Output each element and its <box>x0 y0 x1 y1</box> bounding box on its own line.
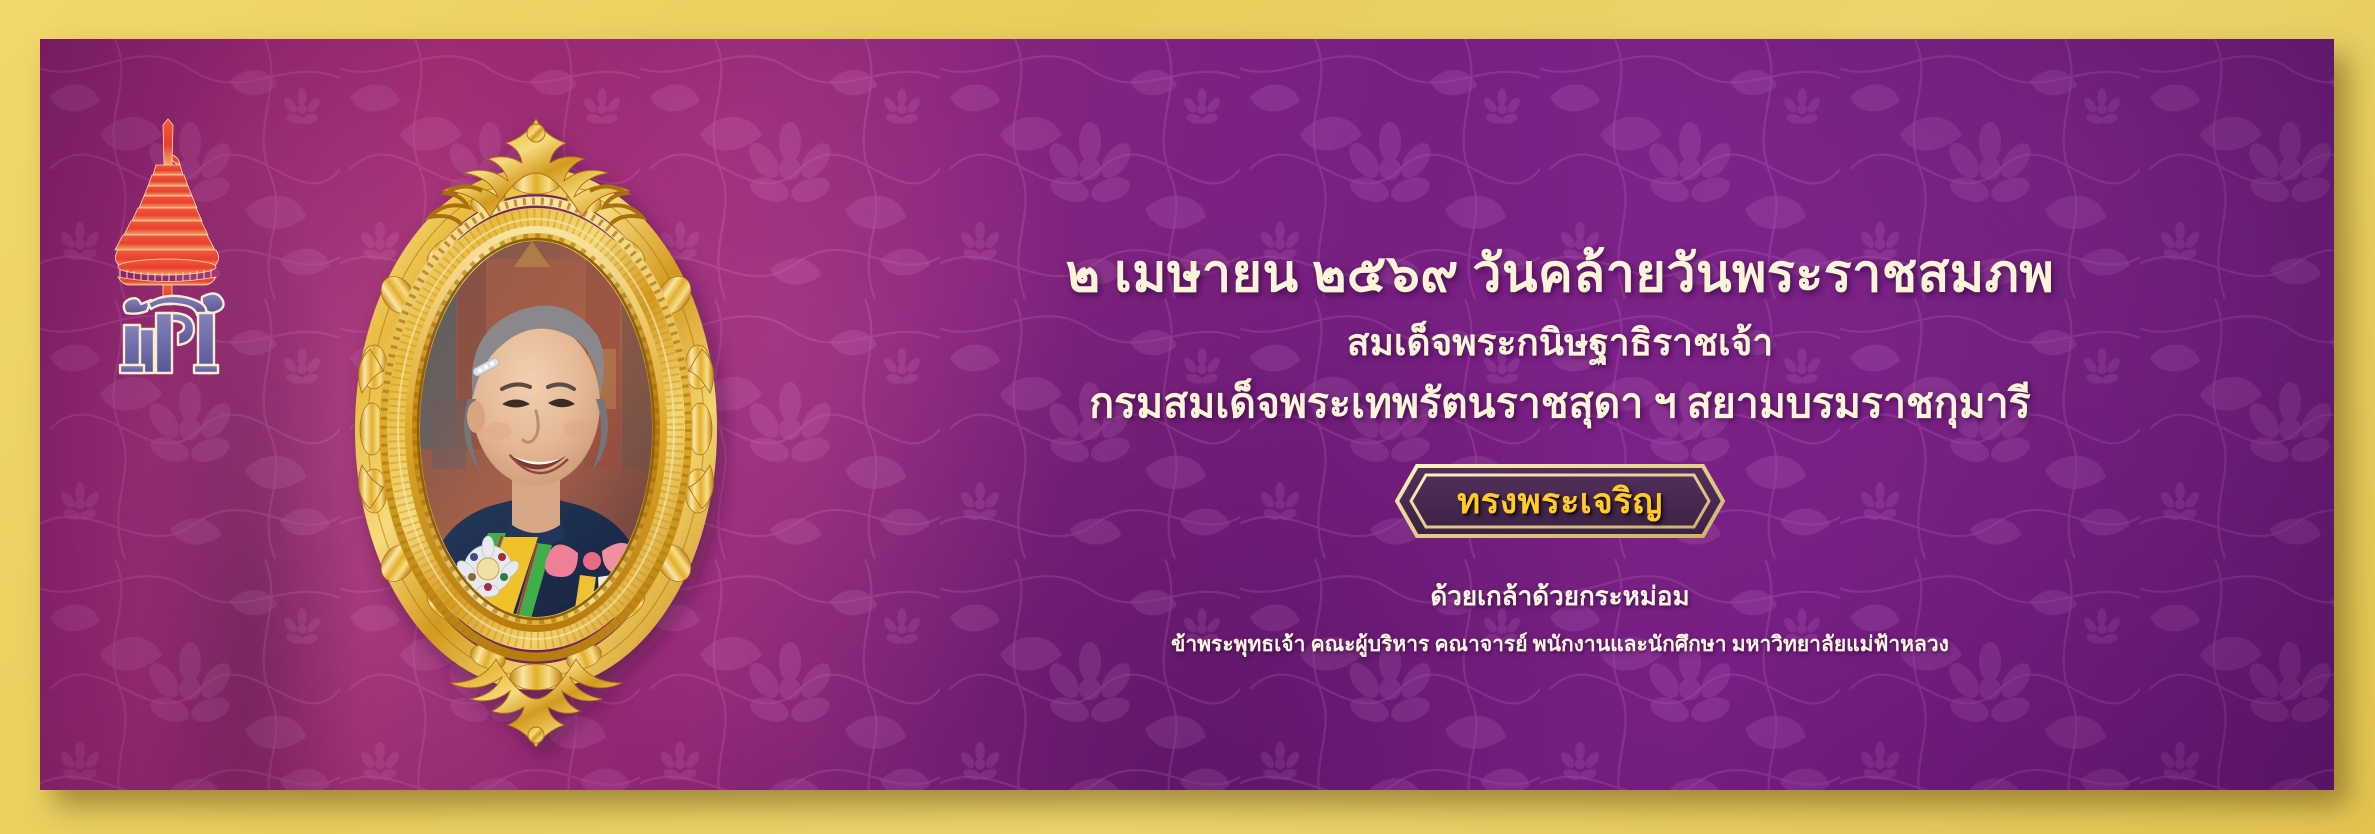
signoff-line-1: ด้วยเกล้าด้วยกระหม่อม <box>1000 576 2120 617</box>
headline-date-line: ๒ เมษายน ๒๕๖๙ วันคล้ายวันพระราชสมภพ <box>1000 244 2120 305</box>
blessing-badge: ทรงพระเจริญ <box>1395 464 1725 538</box>
headline-royal-name: กรมสมเด็จพระเทพรัตนราชสุดา ฯ สยามบรมราชก… <box>1000 377 2120 430</box>
blessing-badge-label: ทรงพระเจริญ <box>1395 464 1725 538</box>
royal-birthday-banner: ๒ เมษายน ๒๕๖๙ วันคล้ายวันพระราชสมภพ สมเด… <box>0 0 2375 834</box>
text-column: ๒ เมษายน ๒๕๖๙ วันคล้ายวันพระราชสมภพ สมเด… <box>1000 244 2120 661</box>
headline-royal-title: สมเด็จพระกนิษฐาธิราชเจ้า <box>1000 317 2120 371</box>
royal-cipher-icon <box>102 117 292 377</box>
purple-silk-panel: ๒ เมษายน ๒๕๖๙ วันคล้ายวันพระราชสมภพ สมเด… <box>40 39 2334 790</box>
royal-umbrella-icon <box>115 119 219 305</box>
portrait-frame-group <box>336 99 736 779</box>
signoff-line-2: ข้าพระพุทธเจ้า คณะผู้บริหาร คณาจารย์ พนั… <box>1000 628 2120 661</box>
